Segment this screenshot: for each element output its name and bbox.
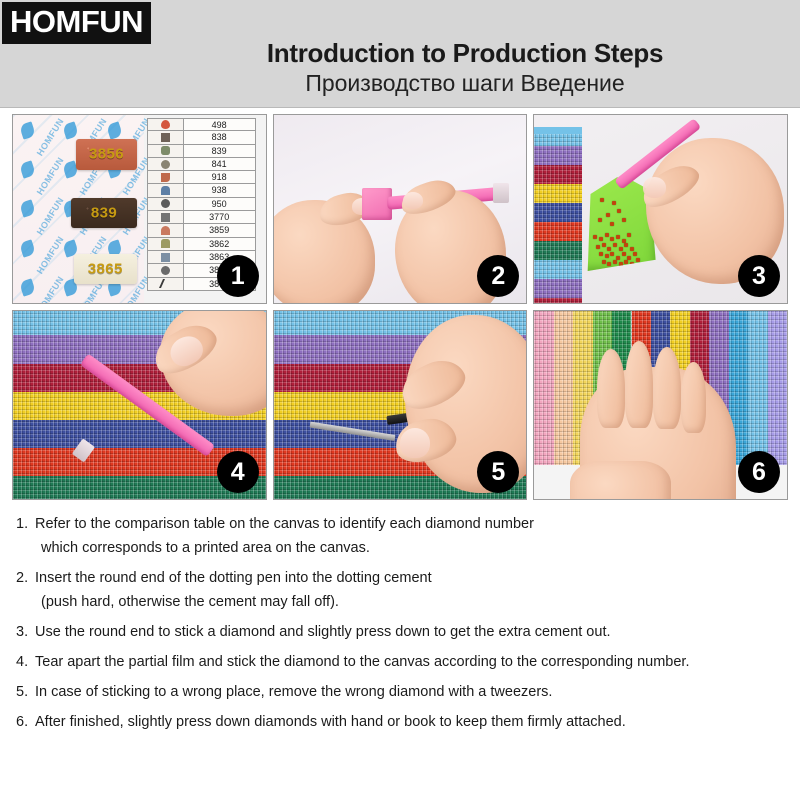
diamond-bead <box>619 247 623 251</box>
instruction-line: After finished, slightly press down diam… <box>35 710 790 734</box>
diamond-bead <box>602 243 606 247</box>
canvas-stripe <box>534 203 582 222</box>
canvas-stripe <box>534 279 582 298</box>
finger-3 <box>653 347 681 430</box>
diamond-bead <box>600 198 604 202</box>
finger-2 <box>625 341 653 427</box>
diamond-bead <box>610 237 614 241</box>
instruction-text: Tear apart the partial film and stick th… <box>35 650 790 674</box>
panel-remove-diamond-with-tweezers: 5 <box>273 310 528 500</box>
instruction-number: 1. <box>16 512 35 560</box>
diamond-bead <box>624 243 628 247</box>
instruction-line: (push hard, otherwise the cement may fal… <box>35 590 790 614</box>
canvas-stripe <box>768 311 787 465</box>
diamond-bag-1-label: 3856 <box>89 146 124 163</box>
instruction-item: 2.Insert the round end of the dotting pe… <box>16 566 790 614</box>
diamond-bead <box>616 235 620 239</box>
cross-glyph-mark <box>161 160 170 169</box>
canvas-stripe <box>534 241 582 260</box>
canvas-stripe <box>748 311 767 465</box>
cup-glyph <box>147 184 184 196</box>
instruction-number: 6. <box>16 710 35 734</box>
chart-row: 950 <box>147 198 256 211</box>
diamond-bead <box>617 209 621 213</box>
title-block: Introduction to Production Steps Произво… <box>140 38 790 97</box>
chart-row: 918 <box>147 171 256 184</box>
right-finger-nail <box>403 192 423 209</box>
chart-dmc-number: 918 <box>184 171 256 183</box>
page-subtitle-russian: Производство шаги Введение <box>140 69 790 97</box>
instruction-item: 6.After finished, slightly press down di… <box>16 710 790 734</box>
chart-dmc-number: 3862 <box>184 238 256 250</box>
instruction-number: 4. <box>16 650 35 674</box>
heart-glyph-mark <box>161 120 170 129</box>
diamond-bead <box>596 245 600 249</box>
bar-glyph <box>147 251 184 263</box>
halfsquare-glyph <box>147 131 184 143</box>
halfsquare-glyph-mark <box>161 133 170 142</box>
star-glyph-mark <box>161 199 170 208</box>
packaging-watermark-logo <box>19 121 36 139</box>
diamond-bead <box>599 252 603 256</box>
panel-place-diamond-on-canvas: 4 <box>12 310 267 500</box>
finger-nail <box>643 177 666 198</box>
step-badge-1: 1 <box>217 255 259 297</box>
trapezoid-glyph-mark <box>161 239 170 248</box>
slash-glyph <box>147 278 184 290</box>
canvas-stripe <box>534 146 582 165</box>
arch-glyph-mark <box>161 226 170 235</box>
diamond-bead <box>619 262 623 266</box>
triangle-glyph-mark <box>161 213 170 222</box>
page-title: Introduction to Production Steps <box>140 38 790 68</box>
corner-glyph-mark <box>161 173 170 182</box>
chart-dmc-number: 950 <box>184 198 256 210</box>
diamond-bead <box>607 262 611 266</box>
diamond-bag-3-label: 3865 <box>88 261 123 278</box>
diamond-bead <box>624 260 628 264</box>
diamond-bead <box>612 201 616 205</box>
diamond-bead <box>636 258 640 262</box>
diamond-bead <box>610 252 614 256</box>
panel-pick-up-diamond-from-tray: 3 <box>533 114 788 304</box>
canvas-stripe <box>534 127 582 146</box>
instruction-line: Use the round end to stick a diamond and… <box>35 620 790 644</box>
hourglass-glyph <box>147 145 184 157</box>
canvas-stripe <box>534 260 582 279</box>
thumb-nail <box>400 428 430 458</box>
flower-glyph-mark <box>161 266 170 275</box>
chart-row: 938 <box>147 184 256 197</box>
chart-dmc-number: 841 <box>184 158 256 170</box>
corner-glyph <box>147 171 184 183</box>
packaging-watermark-text: HOMFUN <box>34 156 65 197</box>
step-photo-grid: HOMFUNHOMFUNHOMFUNHOMFUNHOMFUNHOMFUNHOMF… <box>12 114 788 500</box>
packaging-watermark-text: HOMFUN <box>34 235 65 276</box>
instruction-line: Refer to the comparison table on the can… <box>35 512 790 536</box>
star-glyph <box>147 198 184 210</box>
diamond-bead <box>610 222 614 226</box>
arch-glyph <box>147 224 184 236</box>
diamond-bead <box>599 237 603 241</box>
panel-insert-pen-into-cement: 2 <box>273 114 528 304</box>
diamond-bead <box>602 260 606 264</box>
bar-glyph-mark <box>161 253 170 262</box>
diamond-bead <box>627 233 631 237</box>
chart-dmc-number: 3859 <box>184 224 256 236</box>
cross-glyph <box>147 158 184 170</box>
packaging-watermark-logo <box>106 121 123 139</box>
chart-row: 839 <box>147 145 256 158</box>
step-badge-6: 6 <box>738 451 780 493</box>
chart-row: 498 <box>147 118 256 131</box>
packaging-watermark-logo <box>19 239 36 257</box>
finger-4 <box>681 362 706 433</box>
instruction-line: Tear apart the partial film and stick th… <box>35 650 790 674</box>
canvas-stripe <box>534 222 582 241</box>
diamond-bead <box>613 260 617 264</box>
instruction-item: 3.Use the round end to stick a diamond a… <box>16 620 790 644</box>
diamond-bead <box>622 252 626 256</box>
canvas-stripe <box>534 184 582 203</box>
diamond-bead <box>630 247 634 251</box>
diamond-bead <box>593 235 597 239</box>
chart-dmc-number: 839 <box>184 145 256 157</box>
instruction-line: Insert the round end of the dotting pen … <box>35 566 790 590</box>
instruction-text: Refer to the comparison table on the can… <box>35 512 790 560</box>
instruction-number: 5. <box>16 680 35 704</box>
packaging-watermark-text: HOMFUN <box>34 274 65 303</box>
diamond-bead <box>605 233 609 237</box>
chart-row: 3770 <box>147 211 256 224</box>
instruction-number: 3. <box>16 620 35 644</box>
instruction-text: In case of sticking to a wrong place, re… <box>35 680 790 704</box>
hourglass-glyph-mark <box>161 146 170 155</box>
diamond-bead <box>606 213 610 217</box>
packaging-watermark-text: HOMFUN <box>34 116 65 157</box>
diamond-bead <box>613 243 617 247</box>
canvas-stripe <box>534 311 553 465</box>
instruction-item: 5.In case of sticking to a wrong place, … <box>16 680 790 704</box>
cup-glyph-mark <box>161 186 170 195</box>
diamond-bag-2-label: 839 <box>91 204 117 221</box>
triangle-glyph <box>147 211 184 223</box>
diamond-bag-3: 3865 <box>74 254 137 284</box>
chart-row: 838 <box>147 131 256 144</box>
diamond-bead <box>605 254 609 258</box>
packaging-watermark-logo <box>62 121 79 139</box>
instruction-text: Use the round end to stick a diamond and… <box>35 620 790 644</box>
diamond-bead <box>598 218 602 222</box>
step-badge-3: 3 <box>738 255 780 297</box>
page-header: HOMFUN Introduction to Production Steps … <box>0 0 800 108</box>
instruction-line: which corresponds to a printed area on t… <box>35 536 790 560</box>
panel-diamond-bags-and-color-chart: HOMFUNHOMFUNHOMFUNHOMFUNHOMFUNHOMFUNHOMF… <box>12 114 267 304</box>
packaging-watermark-logo <box>19 200 36 218</box>
chart-dmc-number: 838 <box>184 131 256 143</box>
canvas-stripe <box>534 298 582 303</box>
instruction-number: 2. <box>16 566 35 614</box>
diamond-bead <box>633 252 637 256</box>
chart-dmc-number: 498 <box>184 119 256 130</box>
diamond-bag-2: 839 <box>71 198 137 228</box>
pen-cap-tip <box>493 183 508 204</box>
panel-press-down-finished-canvas: 6 <box>533 310 788 500</box>
diamond-bead <box>627 256 631 260</box>
instruction-line: In case of sticking to a wrong place, re… <box>35 680 790 704</box>
slash-glyph-mark <box>159 279 172 288</box>
packaging-watermark-logo <box>19 160 36 178</box>
finger-1 <box>597 349 625 428</box>
flower-glyph <box>147 264 184 276</box>
instruction-text: Insert the round end of the dotting pen … <box>35 566 790 614</box>
instruction-list: 1.Refer to the comparison table on the c… <box>16 512 790 740</box>
wrist <box>570 461 671 499</box>
page-root: HOMFUN Introduction to Production Steps … <box>0 0 800 800</box>
step-badge-4: 4 <box>217 451 259 493</box>
canvas-stripe <box>554 311 573 465</box>
diamond-bag-1: 3856 <box>76 139 137 169</box>
chart-dmc-number: 3770 <box>184 211 256 223</box>
heart-glyph <box>147 119 184 130</box>
canvas-stripe <box>534 165 582 184</box>
striped-canvas-sample <box>534 134 582 303</box>
trapezoid-glyph <box>147 238 184 250</box>
packaging-watermark-logo <box>19 279 36 297</box>
diamond-bead <box>607 247 611 251</box>
diamond-bead <box>622 218 626 222</box>
chart-row: 3859 <box>147 224 256 237</box>
instruction-item: 1.Refer to the comparison table on the c… <box>16 512 790 560</box>
packaging-watermark-text: HOMFUN <box>34 195 65 236</box>
chart-row: 3862 <box>147 238 256 251</box>
chart-row: 841 <box>147 158 256 171</box>
brand-logo: HOMFUN <box>2 2 151 44</box>
instruction-item: 4.Tear apart the partial film and stick … <box>16 650 790 674</box>
canvas-stripe <box>13 420 266 448</box>
instruction-text: After finished, slightly press down diam… <box>35 710 790 734</box>
chart-dmc-number: 938 <box>184 184 256 196</box>
